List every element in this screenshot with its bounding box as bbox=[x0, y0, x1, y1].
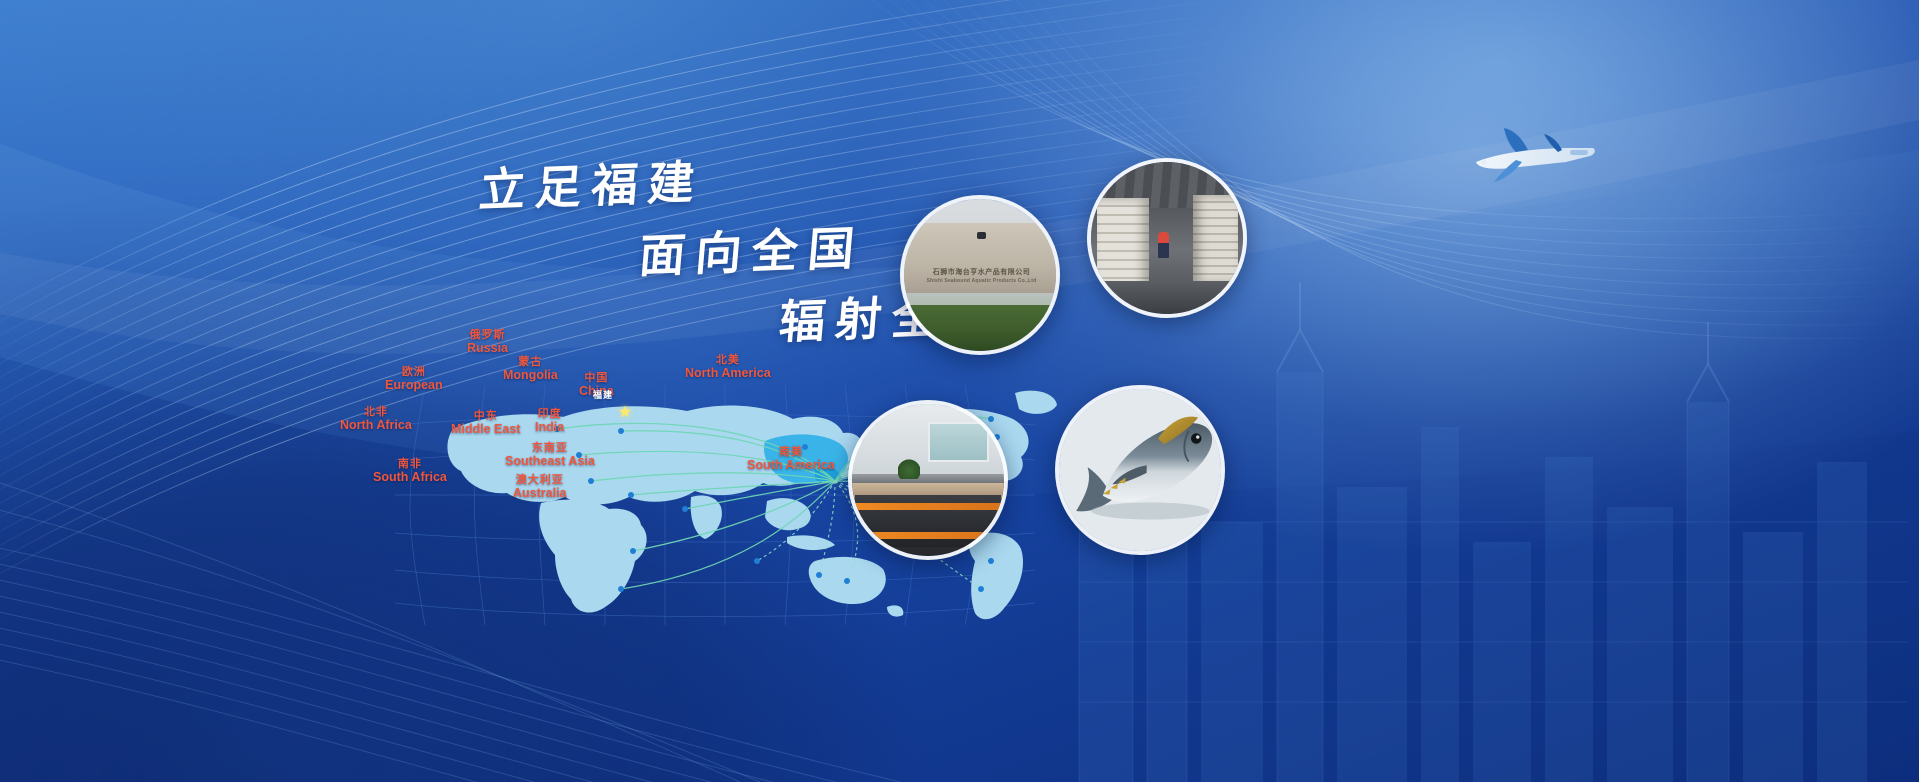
warehouse-worker bbox=[1158, 232, 1169, 258]
map-label-south-america[interactable]: 南美 South America bbox=[747, 447, 835, 472]
warehouse-carton-stack-left bbox=[1097, 198, 1149, 292]
map-label-russia[interactable]: 俄罗斯 Russia bbox=[467, 330, 508, 355]
map-label-north-africa[interactable]: 北非 North Africa bbox=[340, 407, 412, 432]
map-label-mongolia-cn: 蒙古 bbox=[503, 357, 558, 369]
map-label-southeast-asia-cn: 东南亚 bbox=[505, 443, 595, 455]
warehouse-floor bbox=[1091, 281, 1243, 314]
warehouse-carton-stack-right bbox=[1193, 195, 1239, 283]
security-camera-icon bbox=[977, 232, 986, 239]
map-label-middle-east[interactable]: 中东 Middle East bbox=[451, 411, 520, 436]
map-label-north-africa-en: North Africa bbox=[340, 419, 412, 432]
office-shelf-stripe-lower bbox=[855, 532, 1001, 539]
map-label-north-africa-cn: 北非 bbox=[340, 407, 412, 419]
map-label-south-africa-cn: 南非 bbox=[373, 459, 447, 471]
map-label-china-cn: 中国 bbox=[579, 373, 614, 385]
map-label-russia-cn: 俄罗斯 bbox=[467, 330, 508, 342]
photo-company-facade[interactable]: 石狮市海台亨水产品有限公司 Shishi Seabound Aquatic Pr… bbox=[900, 195, 1060, 355]
headline-line-1: 立足福建 bbox=[477, 146, 707, 221]
map-label-india-en: India bbox=[535, 421, 564, 434]
map-label-european-cn: 欧洲 bbox=[385, 367, 443, 379]
star-marker: ★ bbox=[617, 405, 633, 421]
photo-office-interior[interactable] bbox=[848, 400, 1008, 560]
company-sign-en: Shishi Seabound Aquatic Products Co.,Ltd bbox=[927, 278, 1037, 284]
photo-tuna-fish[interactable] bbox=[1055, 385, 1225, 555]
office-window bbox=[928, 422, 989, 462]
map-label-southeast-asia-en: Southeast Asia bbox=[505, 455, 595, 468]
map-label-north-america[interactable]: 北美 North America bbox=[685, 355, 771, 380]
map-label-russia-en: Russia bbox=[467, 342, 508, 355]
map-label-south-africa[interactable]: 南非 South Africa bbox=[373, 459, 447, 484]
map-label-mongolia[interactable]: 蒙古 Mongolia bbox=[503, 357, 558, 382]
tuna-illustration bbox=[1059, 389, 1221, 551]
office-shelf-stripe-upper bbox=[855, 503, 1001, 510]
office-plant bbox=[898, 459, 920, 479]
map-label-australia-cn: 澳大利亚 bbox=[513, 475, 567, 487]
map-label-south-africa-en: South Africa bbox=[373, 471, 447, 484]
map-label-middle-east-en: Middle East bbox=[451, 423, 520, 436]
map-label-india-cn: 印度 bbox=[535, 409, 564, 421]
photo-cold-storage-warehouse[interactable] bbox=[1087, 158, 1247, 318]
map-label-southeast-asia[interactable]: 东南亚 Southeast Asia bbox=[505, 443, 595, 468]
map-label-fujian[interactable]: 福建 bbox=[593, 391, 613, 400]
company-sign-cn: 石狮市海台亨水产品有限公司 bbox=[933, 269, 1031, 278]
map-label-mongolia-en: Mongolia bbox=[503, 369, 558, 382]
map-label-australia-en: Australia bbox=[513, 487, 567, 500]
map-label-european[interactable]: 欧洲 European bbox=[385, 367, 443, 392]
company-sign: 石狮市海台亨水产品有限公司 Shishi Seabound Aquatic Pr… bbox=[913, 260, 1050, 293]
facade-hedge bbox=[904, 305, 1056, 351]
airplane-icon bbox=[1470, 128, 1600, 184]
map-label-south-america-cn: 南美 bbox=[747, 447, 835, 459]
map-label-middle-east-cn: 中东 bbox=[451, 411, 520, 423]
map-label-north-america-cn: 北美 bbox=[685, 355, 771, 367]
map-label-australia[interactable]: 澳大利亚 Australia bbox=[513, 475, 567, 500]
headline-line-2: 面向全国 bbox=[637, 212, 867, 287]
map-label-south-america-en: South America bbox=[747, 459, 835, 472]
promo-banner: 立足福建 面向全国 辐射全球 bbox=[0, 0, 1919, 782]
map-label-india[interactable]: 印度 India bbox=[535, 409, 564, 434]
map-label-north-america-en: North America bbox=[685, 367, 771, 380]
map-label-fujian-cn: 福建 bbox=[593, 391, 613, 400]
map-label-european-en: European bbox=[385, 379, 443, 392]
